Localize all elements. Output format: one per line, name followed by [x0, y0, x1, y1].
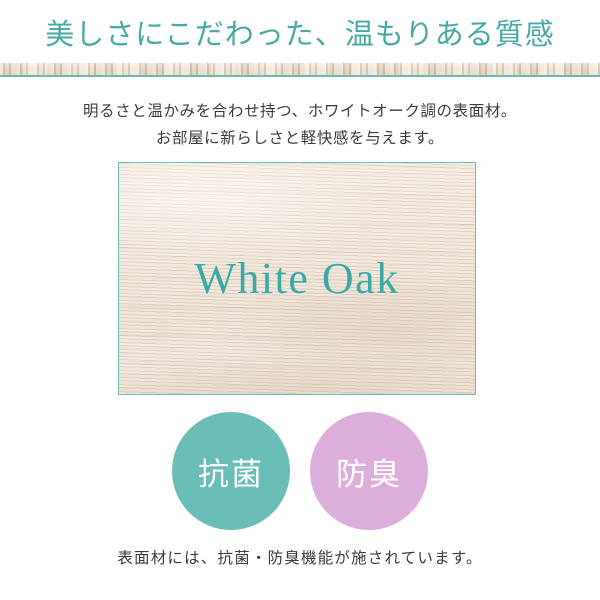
header-block: 美しさにこだわった、温もりある質感	[0, 0, 600, 78]
lead-description-line-2: お部屋に新らしさと軽快感を与えます。	[0, 125, 600, 152]
material-swatch-label: White Oak	[119, 163, 475, 394]
lead-description: 明るさと温かみを合わせ持つ、ホワイトオーク調の表面材。 お部屋に新らしさと軽快感…	[0, 98, 600, 152]
teal-rule	[0, 75, 600, 77]
page-title: 美しさにこだわった、温もりある質感	[0, 20, 600, 52]
antibacterial-label: 抗菌	[172, 412, 290, 530]
product-feature-panel: 美しさにこだわった、温もりある質感 明るさと温かみを合わせ持つ、ホワイトオーク調…	[0, 0, 600, 600]
wood-texture-divider	[0, 63, 600, 75]
lead-description-line-1: 明るさと温かみを合わせ持つ、ホワイトオーク調の表面材。	[0, 98, 600, 125]
footer-caption: 表面材には、抗菌・防臭機能が施されています。	[0, 546, 600, 568]
feature-venn-diagram: 抗菌 防臭	[172, 412, 428, 530]
material-swatch: White Oak	[118, 162, 476, 395]
deodorizing-label: 防臭	[310, 412, 428, 530]
